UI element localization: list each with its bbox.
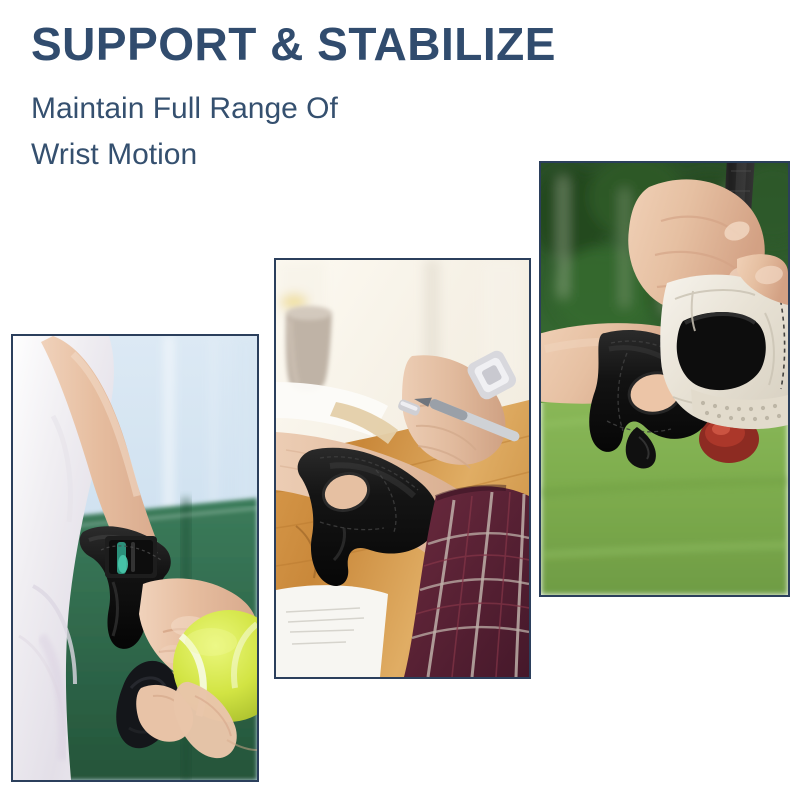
golf-scene-illustration xyxy=(541,163,788,595)
desk-scene-illustration xyxy=(276,260,529,677)
office-desk-photo xyxy=(274,258,531,679)
coffee-mug xyxy=(286,306,332,392)
page-subtitle-line-1: Maintain Full Range Of xyxy=(31,86,731,132)
tennis-player-photo xyxy=(11,334,259,782)
headline-block: SUPPORT & STABILIZE Maintain Full Range … xyxy=(31,18,731,178)
tennis-scene-illustration xyxy=(13,336,257,780)
page-title: SUPPORT & STABILIZE xyxy=(31,18,731,70)
banner-canvas: SUPPORT & STABILIZE Maintain Full Range … xyxy=(0,0,800,800)
golf-grip-photo xyxy=(539,161,790,597)
